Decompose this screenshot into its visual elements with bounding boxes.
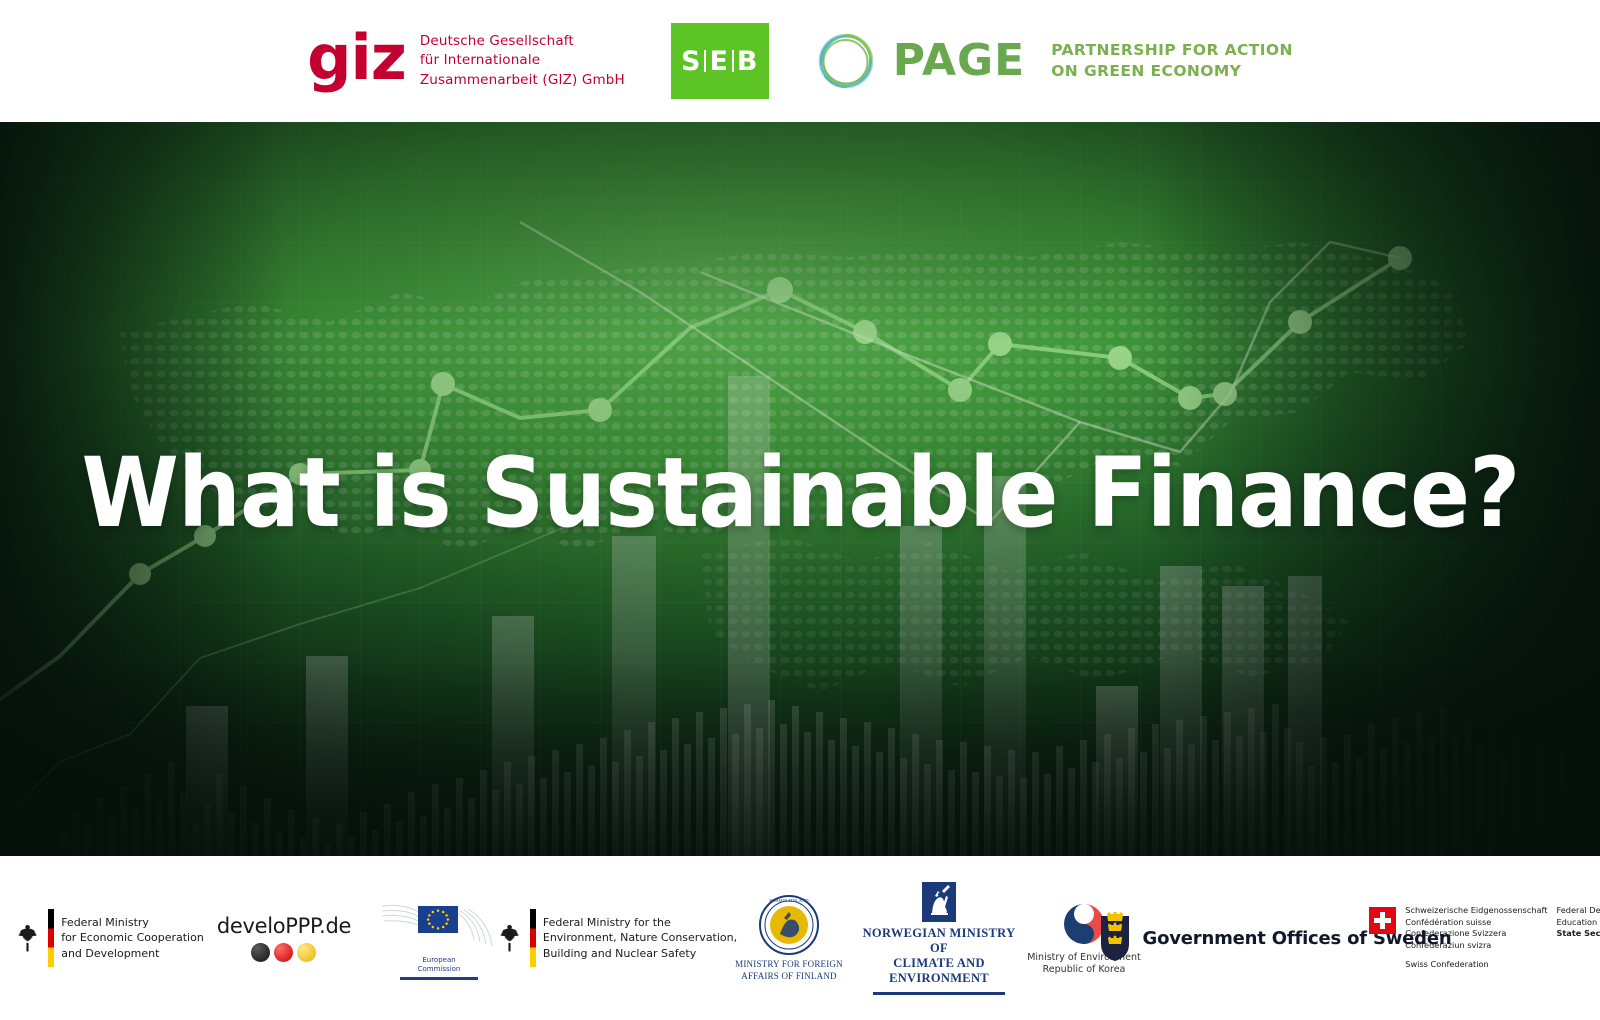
page-wordmark: PAGE xyxy=(893,39,1025,83)
partner-logo-european-commission: European Commission xyxy=(364,896,514,980)
seco-line-2: Education and Research EAER xyxy=(1556,917,1600,929)
seb-letter-e: E xyxy=(709,46,728,77)
norway-lion-icon xyxy=(922,882,956,922)
developpp-dots-icon xyxy=(251,943,316,962)
partner-logo-norway-kld: NORWEGIAN MINISTRY OF CLIMATE AND ENVIRO… xyxy=(859,882,1019,995)
finland-line-2: AFFAIRS OF FINLAND xyxy=(735,971,843,982)
partner-logo-developpp: develoPPP.de xyxy=(204,914,364,962)
german-eagle-icon xyxy=(496,923,523,953)
page-tagline-line-2: ON GREEN ECONOMY xyxy=(1051,61,1293,82)
eu-underline xyxy=(400,977,478,980)
bmz-line-1: Federal Ministry xyxy=(61,915,204,930)
finland-logo-text: MINISTRY FOR FOREIGN AFFAIRS OF FINLAND xyxy=(735,959,843,982)
giz-wordmark-icon: giz xyxy=(307,30,406,86)
german-flag-bar-icon xyxy=(48,909,54,967)
footer-partner-logos: Federal Ministry for Economic Cooperatio… xyxy=(0,856,1600,1020)
swiss-line-1: Schweizerische Eidgenossenschaft xyxy=(1405,905,1547,917)
header-logo-bar: giz Deutsche Gesellschaft für Internatio… xyxy=(0,0,1600,122)
swiss-cross-icon xyxy=(1369,907,1396,934)
partner-logo-sweden: Government Offices of Sweden xyxy=(1149,912,1399,964)
page-logo: PAGE PARTNERSHIP FOR ACTION ON GREEN ECO… xyxy=(813,28,1293,94)
page-tagline: PARTNERSHIP FOR ACTION ON GREEN ECONOMY xyxy=(1051,40,1293,82)
finland-line-1: MINISTRY FOR FOREIGN xyxy=(735,959,843,970)
bmz-line-3: and Development xyxy=(61,946,204,961)
swiss-line-4: Confederaziun svizra xyxy=(1405,940,1547,952)
seco-text: Federal Department of Economic Affairs, … xyxy=(1556,905,1600,940)
eu-logo-text: European Commission xyxy=(418,956,461,974)
partner-logo-bmub: Federal Ministry for the Environment, Na… xyxy=(514,909,719,967)
seco-line-bold: State Secretariat for Economic Affairs S… xyxy=(1556,928,1600,938)
seb-logo: S E B xyxy=(671,23,769,99)
partner-logo-finland-mfa: FORMIN FINLAND MINISTRY FOR FOREIGN AFFA… xyxy=(719,894,859,982)
norway-line-1: NORWEGIAN MINISTRY OF xyxy=(859,926,1019,956)
norway-line-2: CLIMATE AND ENVIRONMENT xyxy=(859,956,1019,986)
bmz-line-2: for Economic Cooperation xyxy=(61,930,204,945)
bmz-logo-text: Federal Ministry for Economic Cooperatio… xyxy=(61,915,204,961)
german-flag-bar-icon xyxy=(530,909,536,967)
sweden-three-crowns-icon xyxy=(1097,912,1133,964)
developpp-wordmark: develoPPP.de xyxy=(217,914,351,938)
giz-logo: giz Deutsche Gesellschaft für Internatio… xyxy=(307,32,625,89)
partner-logo-swiss-seco: Schweizerische Eidgenossenschaft Confédé… xyxy=(1399,905,1600,971)
european-commission-icon xyxy=(380,896,498,954)
seb-wordmark-icon: S E B xyxy=(681,46,759,77)
giz-logo-text: Deutsche Gesellschaft für Internationale… xyxy=(420,32,625,89)
seco-line-1: Federal Department of Economic Affairs, xyxy=(1556,905,1600,917)
bmub-logo-text: Federal Ministry for the Environment, Na… xyxy=(543,915,737,961)
finland-seal-icon: FORMIN FINLAND xyxy=(758,894,820,956)
norway-logo-text: NORWEGIAN MINISTRY OF CLIMATE AND ENVIRO… xyxy=(859,926,1019,986)
seb-divider-icon xyxy=(704,50,706,72)
swiss-subline: Swiss Confederation xyxy=(1405,959,1547,971)
seb-divider-icon xyxy=(732,50,734,72)
seb-letter-b: B xyxy=(737,46,759,77)
hero-banner: What is Sustainable Finance? xyxy=(0,122,1600,856)
swiss-line-2: Confédération suisse xyxy=(1405,917,1547,929)
partner-logo-bmz: Federal Ministry for Economic Cooperatio… xyxy=(14,909,204,967)
eu-line-2: Commission xyxy=(418,965,461,974)
giz-line-2: für Internationale xyxy=(420,51,625,70)
giz-line-3: Zusammenarbeit (GIZ) GmbH xyxy=(420,71,625,90)
page-ring-icon xyxy=(813,28,879,94)
page-tagline-line-1: PARTNERSHIP FOR ACTION xyxy=(1051,40,1293,61)
seb-letter-s: S xyxy=(681,46,701,77)
hero-background-graphic xyxy=(0,122,1600,856)
swiss-line-3: Confederazione Svizzera xyxy=(1405,928,1547,940)
svg-text:FORMIN FINLAND: FORMIN FINLAND xyxy=(769,898,809,903)
bmub-line-2: Environment, Nature Conservation, xyxy=(543,930,737,945)
korea-line-2: Republic of Korea xyxy=(1027,964,1141,976)
bmub-line-3: Building and Nuclear Safety xyxy=(543,946,737,961)
slide-root: giz Deutsche Gesellschaft für Internatio… xyxy=(0,0,1600,1020)
german-eagle-icon xyxy=(14,923,41,953)
norway-underline xyxy=(873,992,1005,995)
eu-line-1: European xyxy=(418,956,461,965)
bmub-line-1: Federal Ministry for the xyxy=(543,915,737,930)
giz-line-1: Deutsche Gesellschaft xyxy=(420,32,625,51)
swiss-confederation-text: Schweizerische Eidgenossenschaft Confédé… xyxy=(1405,905,1547,971)
